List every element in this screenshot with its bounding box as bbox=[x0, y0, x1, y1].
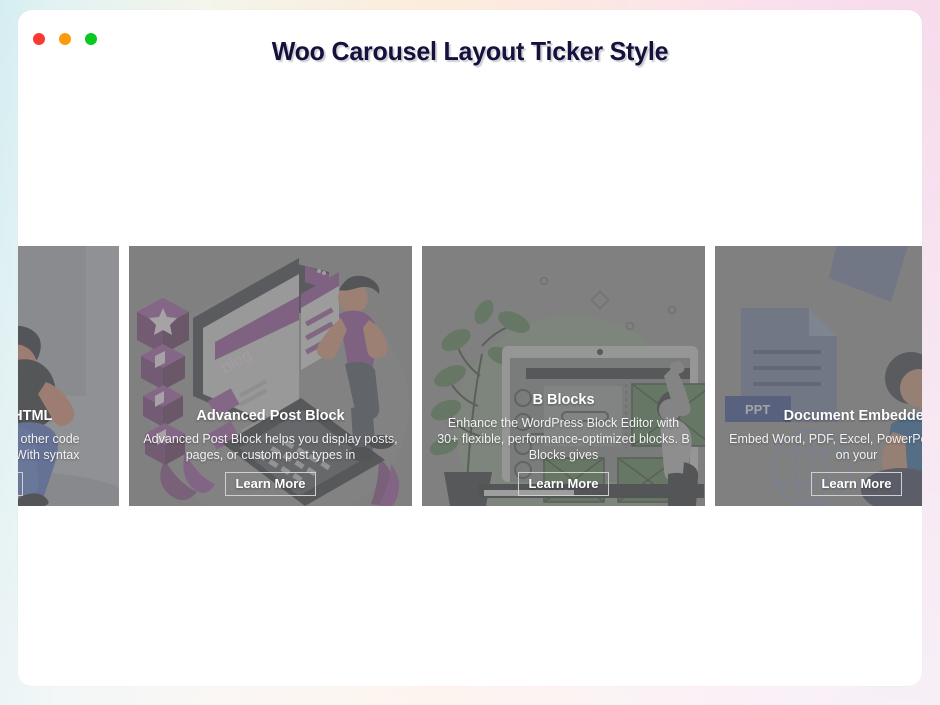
carousel-track[interactable]: W bbox=[18, 246, 922, 516]
window-titlebar: Woo Carousel Layout Ticker Style bbox=[18, 10, 922, 80]
card-description: Embed Word, PDF, Excel, PowerPoint direc… bbox=[729, 431, 922, 463]
carousel-card[interactable]: blog bbox=[129, 246, 412, 506]
page-title: Woo Carousel Layout Ticker Style bbox=[36, 36, 904, 67]
carousel-card[interactable]: PPT bbox=[715, 246, 922, 506]
card-content: Advanced Post Block Advanced Post Block … bbox=[129, 408, 412, 496]
learn-more-button[interactable]: Learn More bbox=[811, 472, 901, 496]
learn-more-button[interactable]: Learn More bbox=[18, 472, 23, 496]
learn-more-button[interactable]: Learn More bbox=[518, 472, 608, 496]
card-description: Enhance the WordPress Block Editor with … bbox=[436, 415, 691, 463]
card-description: Add HTML, CSS, JS, and other code anywhe… bbox=[18, 431, 105, 463]
carousel-card[interactable]: B Blocks Enhance the WordPress Block Edi… bbox=[422, 246, 705, 506]
card-title: B Blocks bbox=[436, 392, 691, 408]
card-title: Document Embedder bbox=[729, 408, 922, 424]
carousel-card[interactable]: W bbox=[18, 246, 119, 506]
card-content: B Blocks Enhance the WordPress Block Edi… bbox=[422, 392, 705, 496]
browser-window: Woo Carousel Layout Ticker Style bbox=[18, 10, 922, 686]
card-content: Simple Custom HTML Add HTML, CSS, JS, an… bbox=[18, 408, 119, 496]
card-title: Advanced Post Block bbox=[143, 408, 398, 424]
card-title: Simple Custom HTML bbox=[18, 408, 105, 424]
card-content: Document Embedder Embed Word, PDF, Excel… bbox=[715, 408, 922, 496]
learn-more-button[interactable]: Learn More bbox=[225, 472, 315, 496]
carousel-viewport[interactable]: W bbox=[18, 246, 922, 516]
card-description: Advanced Post Block helps you display po… bbox=[143, 431, 398, 463]
